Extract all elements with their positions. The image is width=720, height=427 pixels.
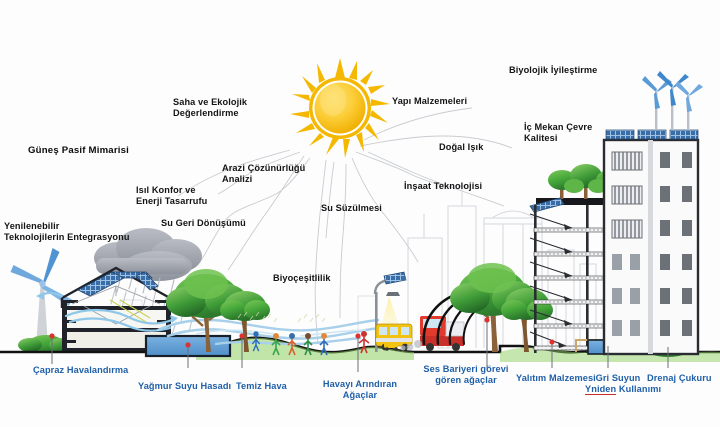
label-thermal-comfort-energy-saving: Isıl Konfor ve Enerji Tasarrufu bbox=[136, 185, 207, 207]
marker-dot bbox=[484, 317, 489, 322]
label-solar-passive-architecture: Güneş Pasif Mimarisi bbox=[28, 145, 129, 156]
label-natural-light: Doğal Işık bbox=[439, 142, 483, 153]
infographic-canvas: Güneş Pasif Mimarisi Saha ve Ekolojik De… bbox=[0, 0, 720, 427]
label-rainwater-harvesting: Yağmur Suyu Hasadı bbox=[138, 381, 231, 392]
label-clean-air: Temiz Hava bbox=[236, 381, 287, 392]
apartment-tower bbox=[604, 71, 703, 354]
label-noise-barrier-trees: Ses Bariyeri görevi gören ağaçlar bbox=[414, 364, 518, 386]
label-building-materials: Yapı Malzemeleri bbox=[392, 96, 467, 107]
label-indoor-environmental-quality: İç Mekan Çevre Kalitesi bbox=[524, 122, 592, 144]
label-water-filtration: Su Süzülmesi bbox=[321, 203, 382, 214]
label-site-ecological-assessment: Saha ve Ekolojik Değerlendirme bbox=[173, 97, 247, 119]
label-insulation-material: Yalıtım Malzemesi bbox=[516, 373, 596, 384]
marker-dot bbox=[185, 342, 190, 347]
label-drainage-pit: Drenaj Çukuru bbox=[647, 373, 712, 384]
solar-panel-icon bbox=[606, 130, 698, 139]
greywater-reuse-line1: Gri Suyun bbox=[596, 373, 641, 383]
label-greywater-reuse: Gri SuyunYniden Kullanımı bbox=[585, 373, 651, 395]
label-renewable-technology-integration: Yenilenebilir Teknolojilerin Entegrasyon… bbox=[4, 221, 130, 243]
wind-turbine-icon bbox=[642, 71, 703, 130]
marker-dot bbox=[355, 333, 360, 338]
label-water-recycling: Su Geri Dönüşümü bbox=[161, 218, 246, 229]
marker-dot bbox=[549, 339, 554, 344]
greywater-reuse-line2-rest: Kullanımı bbox=[619, 384, 661, 394]
solar-panel-icon bbox=[78, 272, 158, 296]
label-land-resolution-analysis: Arazi Çözünürlüğü Analizi bbox=[222, 163, 305, 185]
label-construction-technology: İnşaat Teknolojisi bbox=[404, 181, 482, 192]
label-biodiversity: Biyoçeşitlilik bbox=[273, 273, 331, 284]
marker-dot bbox=[239, 333, 244, 338]
label-air-purifying-trees: Havayı Arındıran Ağaçlar bbox=[317, 379, 403, 401]
greywater-reuse-misspelled-word: Yniden bbox=[585, 384, 616, 395]
marker-dot bbox=[49, 333, 54, 338]
label-cross-ventilation: Çapraz Havalandırma bbox=[33, 365, 128, 376]
tree-icon bbox=[501, 288, 553, 352]
label-biological-remediation: Biyolojik İyileştirme bbox=[509, 65, 597, 76]
